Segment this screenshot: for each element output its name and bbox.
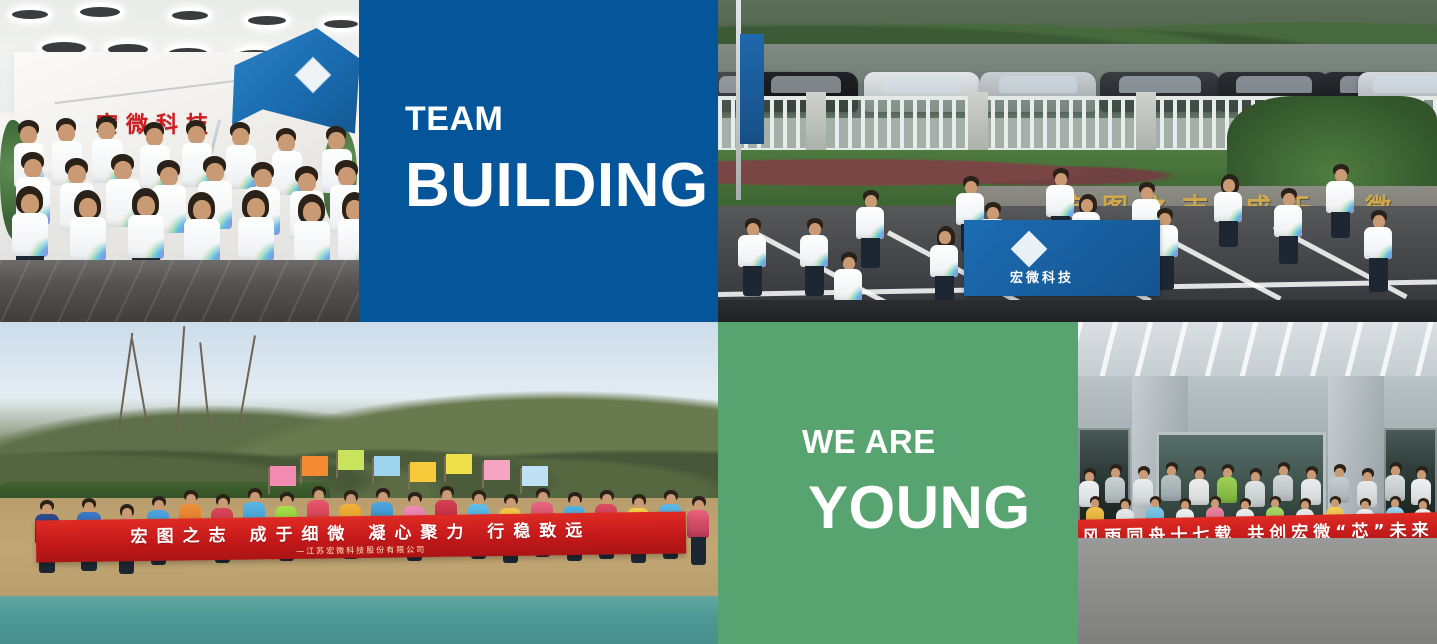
- panel-team-building: TEAM BUILDING: [359, 0, 718, 322]
- panel-team-building-line-large: BUILDING: [405, 153, 718, 220]
- ring-light-icon: [244, 12, 290, 29]
- entrance-canopy: [1078, 322, 1437, 382]
- photo-building-crowd: 风雨同舟十七载 共创宏微“芯”未来 —宏微科技家: [1078, 322, 1437, 644]
- photo-team-indoor: 宏微科技: [0, 0, 359, 322]
- panel-we-are-young-line-large: YOUNG: [802, 476, 1078, 541]
- running-track: [0, 596, 718, 644]
- lobby-floor: [0, 260, 359, 322]
- field-banner-main-text: 宏图之志 成于细微 凝心聚力 行稳致远: [130, 515, 591, 546]
- company-banner: 宏微科技: [964, 220, 1160, 296]
- ring-light-icon: [76, 3, 124, 21]
- vertical-blue-banner: [740, 34, 764, 144]
- fence-post: [968, 92, 988, 156]
- ring-light-icon: [168, 7, 212, 24]
- panel-we-are-young: WE ARE YOUNG: [718, 322, 1078, 644]
- road: [1078, 538, 1437, 644]
- fence-post: [1136, 92, 1156, 156]
- banner-emblem-icon: [1011, 231, 1048, 268]
- panel-team-building-line-small: TEAM: [405, 102, 718, 138]
- panel-team-building-inner: TEAM BUILDING: [359, 102, 718, 221]
- banner-company-text: 宏微科技: [1010, 267, 1074, 286]
- hand-flag: [338, 450, 364, 470]
- photo-parking-lot: 宏图之志 成于细微: [718, 0, 1437, 322]
- fence-post: [806, 92, 826, 156]
- ring-light-icon: [320, 16, 359, 32]
- photo-collage: 宏微科技: [0, 0, 1437, 644]
- curb: [718, 300, 1437, 322]
- photo-field-banner: 宏图之志 成于细微 凝心聚力 行稳致远 —江苏宏微科技股份有限公司: [0, 322, 718, 644]
- ring-light-icon: [8, 6, 52, 23]
- panel-we-are-young-inner: WE ARE YOUNG: [718, 425, 1078, 540]
- field-banner-sub-text: —江苏宏微科技股份有限公司: [296, 544, 426, 557]
- panel-we-are-young-line-small: WE ARE: [802, 425, 1078, 460]
